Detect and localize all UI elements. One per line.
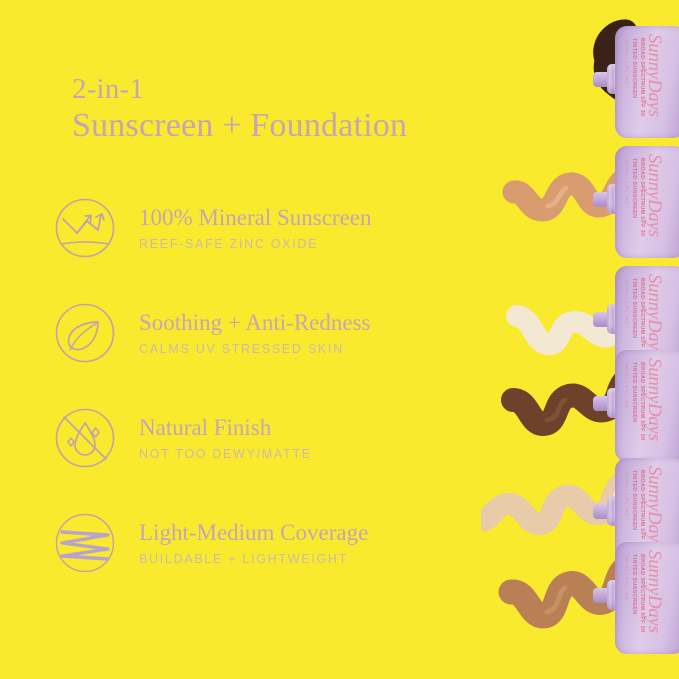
feature-item-natural-finish: Natural Finish NOT TOO DEWY/MATTE bbox=[52, 398, 482, 478]
brand-name: SunnyDays bbox=[643, 550, 665, 633]
feature-subtitle: BUILDABLE + LIGHTWEIGHT bbox=[139, 551, 368, 568]
label-size: 30 ML / 1 FL. OZ. bbox=[623, 160, 628, 206]
product-bottle: SunnyDays BROAD SPECTRUM SPF 30 TINTED S… bbox=[615, 350, 679, 462]
label-line-2: TINTED SUNSCREEN bbox=[631, 554, 637, 614]
feature-list: 100% Mineral Sunscreen REEF-SAFE ZINC OX… bbox=[52, 188, 482, 608]
brand-name: SunnyDays bbox=[643, 154, 665, 237]
feature-item-coverage: Light-Medium Coverage BUILDABLE + LIGHTW… bbox=[52, 503, 482, 583]
label-size: 30 ML / 1 FL. OZ. bbox=[623, 40, 628, 86]
feature-subtitle: NOT TOO DEWY/MATTE bbox=[139, 446, 312, 463]
bottle-label: SunnyDays BROAD SPECTRUM SPF 30 TINTED S… bbox=[615, 26, 679, 138]
feature-item-mineral-sunscreen: 100% Mineral Sunscreen REEF-SAFE ZINC OX… bbox=[52, 188, 482, 268]
no-dewy-droplet-icon bbox=[52, 405, 118, 471]
label-line-1: BROAD SPECTRUM SPF 30 bbox=[639, 38, 645, 116]
product-bottle-column: SunnyDays BROAD SPECTRUM SPF 30 TINTED S… bbox=[449, 0, 679, 679]
feature-item-soothing: Soothing + Anti-Redness CALMS UV STRESSE… bbox=[52, 293, 482, 373]
feature-text: 100% Mineral Sunscreen REEF-SAFE ZINC OX… bbox=[139, 204, 372, 253]
headline-line-1: 2-in-1 bbox=[72, 72, 502, 106]
label-size: 30 ML / 1 FL. OZ. bbox=[623, 556, 628, 602]
leaf-icon bbox=[52, 300, 118, 366]
uv-deflect-icon bbox=[52, 195, 118, 261]
label-line-1: BROAD SPECTRUM SPF 30 bbox=[639, 158, 645, 236]
label-line-2: TINTED SUNSCREEN bbox=[631, 362, 637, 422]
label-line-2: TINTED SUNSCREEN bbox=[631, 38, 637, 98]
brand-name: SunnyDays bbox=[643, 358, 665, 441]
feature-text: Natural Finish NOT TOO DEWY/MATTE bbox=[139, 414, 312, 463]
product-feature-graphic: 2-in-1 Sunscreen + Foundation 100% Miner… bbox=[0, 0, 679, 679]
feature-title: Light-Medium Coverage bbox=[139, 519, 368, 546]
label-size: 30 ML / 1 FL. OZ. bbox=[623, 364, 628, 410]
label-line-2: TINTED SUNSCREEN bbox=[631, 158, 637, 218]
product-bottle: SunnyDays BROAD SPECTRUM SPF 30 TINTED S… bbox=[615, 26, 679, 138]
label-line-2: TINTED SUNSCREEN bbox=[631, 470, 637, 530]
feature-subtitle: REEF-SAFE ZINC OXIDE bbox=[139, 236, 372, 253]
feature-text: Soothing + Anti-Redness CALMS UV STRESSE… bbox=[139, 309, 370, 358]
label-line-1: BROAD SPECTRUM SPF 30 bbox=[639, 362, 645, 440]
feature-title: Soothing + Anti-Redness bbox=[139, 309, 370, 336]
feature-text: Light-Medium Coverage BUILDABLE + LIGHTW… bbox=[139, 519, 368, 568]
label-line-1: BROAD SPECTRUM SPF 30 bbox=[639, 554, 645, 632]
feature-title: Natural Finish bbox=[139, 414, 312, 441]
product-bottle: SunnyDays BROAD SPECTRUM SPF 30 TINTED S… bbox=[615, 146, 679, 258]
brand-name: SunnyDays bbox=[643, 34, 665, 117]
bottle-label: SunnyDays BROAD SPECTRUM SPF 30 TINTED S… bbox=[615, 542, 679, 654]
headline-line-2: Sunscreen + Foundation bbox=[72, 106, 502, 146]
label-size: 30 ML / 1 FL. OZ. bbox=[623, 472, 628, 518]
bottle-label: SunnyDays BROAD SPECTRUM SPF 30 TINTED S… bbox=[615, 146, 679, 258]
product-bottle: SunnyDays BROAD SPECTRUM SPF 30 TINTED S… bbox=[615, 542, 679, 654]
label-size: 30 ML / 1 FL. OZ. bbox=[623, 280, 628, 326]
feature-title: 100% Mineral Sunscreen bbox=[139, 204, 372, 231]
bottle-label: SunnyDays BROAD SPECTRUM SPF 30 TINTED S… bbox=[615, 350, 679, 462]
label-line-2: TINTED SUNSCREEN bbox=[631, 278, 637, 338]
page-title: 2-in-1 Sunscreen + Foundation bbox=[72, 72, 502, 146]
coverage-swatch-icon bbox=[52, 510, 118, 576]
feature-subtitle: CALMS UV STRESSED SKIN bbox=[139, 341, 370, 358]
